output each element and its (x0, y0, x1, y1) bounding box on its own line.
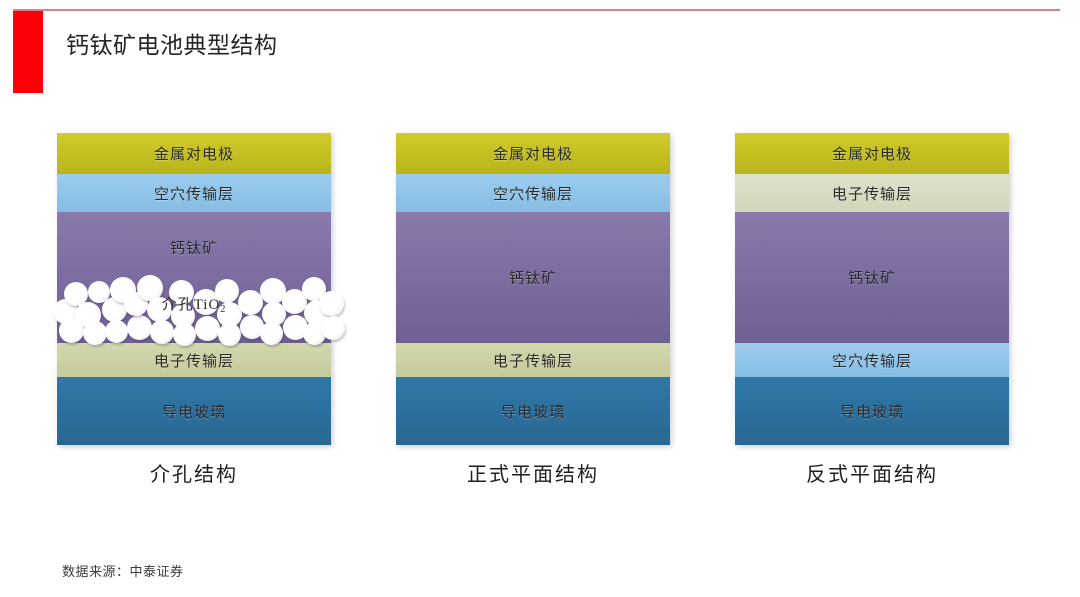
layer-metal-electrode: 金属对电极 (735, 133, 1009, 174)
device-diagram-regular-planar: 金属对电极 空穴传输层 钙钛矿 电子传输层 导电玻璃 (396, 133, 670, 445)
layer-stack: 金属对电极 空穴传输层 钙钛矿 电子传输层 导电玻璃 (57, 133, 331, 445)
layer-electron-transport: 电子传输层 (735, 174, 1009, 212)
layer-metal-electrode: 金属对电极 (396, 133, 670, 174)
layer-perovskite: 钙钛矿 (57, 212, 331, 343)
layer-label: 钙钛矿 (170, 237, 218, 258)
layer-electron-transport: 电子传输层 (396, 343, 670, 377)
layer-stack: 金属对电极 电子传输层 钙钛矿 空穴传输层 导电玻璃 (735, 133, 1009, 445)
diagram-caption-regular-planar: 正式平面结构 (396, 458, 670, 487)
layer-label: 金属对电极 (154, 143, 234, 164)
device-diagram-inverted-planar: 金属对电极 电子传输层 钙钛矿 空穴传输层 导电玻璃 (735, 133, 1009, 445)
layer-label: 电子传输层 (154, 350, 234, 371)
layer-label: 导电玻璃 (501, 401, 565, 422)
layer-conductive-glass: 导电玻璃 (735, 377, 1009, 445)
layer-conductive-glass: 导电玻璃 (396, 377, 670, 445)
mesoporous-tio2-label: 介孔TiO2 (57, 293, 331, 314)
diagram-caption-mesoporous: 介孔结构 (57, 458, 331, 487)
mesoporous-tio2-text: 介孔TiO (162, 297, 221, 313)
layer-metal-electrode: 金属对电极 (57, 133, 331, 174)
layer-label: 导电玻璃 (162, 401, 226, 422)
layer-label: 空穴传输层 (493, 183, 573, 204)
layer-label: 空穴传输层 (832, 350, 912, 371)
layer-label: 空穴传输层 (154, 183, 234, 204)
diagram-caption-inverted-planar: 反式平面结构 (735, 458, 1009, 487)
mesoporous-tio2-subscript: 2 (220, 304, 226, 315)
layer-label: 钙钛矿 (848, 267, 896, 288)
layer-perovskite: 钙钛矿 (735, 212, 1009, 343)
layer-label: 电子传输层 (832, 183, 912, 204)
layer-electron-transport: 电子传输层 (57, 343, 331, 377)
diagram-group: 金属对电极 空穴传输层 钙钛矿 电子传输层 导电玻璃 (0, 0, 1080, 597)
layer-label: 金属对电极 (832, 143, 912, 164)
layer-stack: 金属对电极 空穴传输层 钙钛矿 电子传输层 导电玻璃 (396, 133, 670, 445)
slide-root: 钙钛矿电池典型结构 金属对电极 空穴传输层 钙钛矿 电子传输层 导电玻璃 (0, 0, 1080, 597)
layer-label: 导电玻璃 (840, 401, 904, 422)
layer-label: 钙钛矿 (509, 267, 557, 288)
layer-label: 金属对电极 (493, 143, 573, 164)
layer-hole-transport: 空穴传输层 (57, 174, 331, 212)
source-note: 数据来源：中泰证券 (62, 561, 184, 580)
layer-perovskite: 钙钛矿 (396, 212, 670, 343)
device-diagram-mesoporous: 金属对电极 空穴传输层 钙钛矿 电子传输层 导电玻璃 (57, 133, 331, 445)
layer-hole-transport: 空穴传输层 (735, 343, 1009, 377)
layer-hole-transport: 空穴传输层 (396, 174, 670, 212)
layer-label: 电子传输层 (493, 350, 573, 371)
layer-conductive-glass: 导电玻璃 (57, 377, 331, 445)
